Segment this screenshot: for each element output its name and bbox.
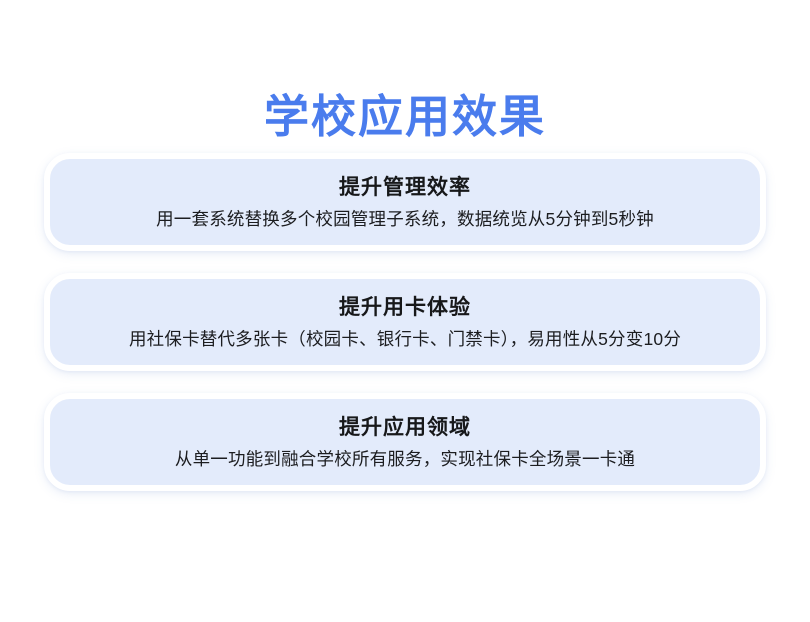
- benefit-card-description: 用一套系统替换多个校园管理子系统，数据统览从5分钟到5秒钟: [156, 206, 654, 232]
- benefit-card-application-scope: 提升应用领域 从单一功能到融合学校所有服务，实现社保卡全场景一卡通: [44, 393, 766, 491]
- benefit-card-heading: 提升管理效率: [339, 173, 471, 202]
- benefit-card-description: 用社保卡替代多张卡（校园卡、银行卡、门禁卡），易用性从5分变10分: [129, 326, 681, 352]
- benefit-card-heading: 提升用卡体验: [339, 293, 471, 322]
- school-application-effect-page: 学校应用效果 提升管理效率 用一套系统替换多个校园管理子系统，数据统览从5分钟到…: [0, 0, 810, 622]
- benefit-card-management-efficiency: 提升管理效率 用一套系统替换多个校园管理子系统，数据统览从5分钟到5秒钟: [44, 153, 766, 251]
- benefit-card-card-experience: 提升用卡体验 用社保卡替代多张卡（校园卡、银行卡、门禁卡），易用性从5分变10分: [44, 273, 766, 371]
- page-title: 学校应用效果: [0, 88, 810, 146]
- benefit-card-list: 提升管理效率 用一套系统替换多个校园管理子系统，数据统览从5分钟到5秒钟 提升用…: [44, 153, 766, 491]
- benefit-card-description: 从单一功能到融合学校所有服务，实现社保卡全场景一卡通: [175, 446, 635, 472]
- benefit-card-heading: 提升应用领域: [339, 413, 471, 442]
